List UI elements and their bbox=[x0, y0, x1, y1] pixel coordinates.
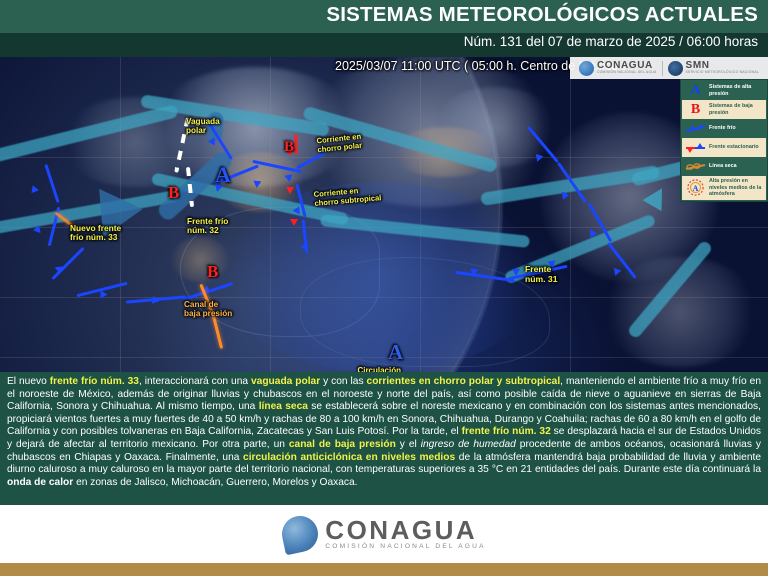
smn-logo-subtext: SERVICIO METEOROLÓGICO NACIONAL bbox=[686, 71, 759, 74]
legend-item-cold-front: Frente frío bbox=[682, 119, 766, 138]
text-segment: corrientes en chorro polar y subtropical bbox=[367, 376, 561, 387]
text-segment: frente frío núm. 33 bbox=[50, 376, 139, 387]
cold-front-barb bbox=[512, 269, 520, 276]
mid-level-high-icon: A bbox=[685, 180, 706, 195]
bulletin-number-date: Núm. 131 del 07 de marzo de 2025 / 06:00… bbox=[464, 34, 758, 49]
text-segment: y el bbox=[396, 439, 421, 450]
legend-label: Sistemas de alta presión bbox=[709, 84, 763, 97]
text-segment: frente frío núm. 32 bbox=[462, 426, 551, 437]
legend-item-high-pressure: A Sistemas de alta presión bbox=[682, 81, 766, 100]
bulletin-paragraph: El nuevo frente frío núm. 33, interaccio… bbox=[7, 376, 761, 488]
high-pressure-icon: A bbox=[685, 83, 706, 98]
text-segment: circulación anticiclónica en niveles med… bbox=[243, 452, 455, 463]
legend-label: Frente estacionario bbox=[709, 144, 759, 151]
cold-front-icon bbox=[685, 121, 706, 136]
footer: CONAGUA COMISIÓN NACIONAL DEL AGUA bbox=[0, 505, 768, 563]
cold-front-barb bbox=[101, 291, 108, 299]
text-segment: canal de baja presión bbox=[289, 439, 396, 450]
cold-front-barb bbox=[470, 269, 479, 277]
grid-line bbox=[0, 157, 768, 158]
cold-front-barb bbox=[292, 206, 299, 214]
stationary-front-glyph bbox=[685, 142, 706, 154]
smn-globe-icon bbox=[668, 61, 683, 76]
marker-high-pressure-500hpa: A bbox=[388, 340, 403, 365]
legend-symbol-B: B bbox=[691, 102, 700, 118]
cold-front-glyph bbox=[685, 123, 706, 135]
cold-front-barb bbox=[284, 174, 293, 182]
satellite-weather-map: A B B B A Vaguada polar Corriente en cho… bbox=[0, 57, 768, 372]
legend-label: Frente frío bbox=[709, 125, 736, 132]
cold-front-barb bbox=[300, 242, 307, 250]
smn-logo: SMN SERVICIO METEOROLÓGICO NACIONAL bbox=[662, 61, 764, 76]
conagua-logo-subtext: COMISIÓN NACIONAL DEL AGUA bbox=[597, 71, 657, 74]
text-segment: ingreso de humedad bbox=[421, 439, 516, 450]
grid-line bbox=[570, 57, 571, 372]
agency-logo-strip: CONAGUA COMISIÓN NACIONAL DEL AGUA SMN S… bbox=[570, 57, 768, 79]
cold-front-barb bbox=[152, 296, 160, 305]
legend-item-mid-level-high: A Alta presión en niveles medios de la a… bbox=[682, 176, 766, 200]
conagua-footer-logo: CONAGUA COMISIÓN NACIONAL DEL AGUA bbox=[282, 516, 485, 552]
warm-front-bump bbox=[290, 219, 298, 226]
legend-item-dry-line: Línea seca bbox=[682, 157, 766, 176]
warm-front-bump bbox=[286, 187, 294, 194]
text-segment: El nuevo bbox=[7, 376, 50, 387]
conagua-logo: CONAGUA COMISIÓN NACIONAL DEL AGUA bbox=[574, 61, 662, 76]
map-legend: A Sistemas de alta presión B Sistemas de… bbox=[680, 79, 768, 202]
text-segment: vaguada polar bbox=[251, 376, 320, 387]
bulletin-body-text: El nuevo frente frío núm. 33, interaccio… bbox=[0, 372, 768, 505]
text-segment: en zonas de Jalisco, Michoacán, Guerrero… bbox=[73, 477, 357, 488]
dry-line-icon bbox=[685, 159, 706, 174]
cold-front-barb bbox=[547, 260, 556, 268]
cold-front-barb bbox=[253, 181, 262, 189]
footer-brand: CONAGUA bbox=[325, 517, 485, 544]
weather-bulletin-page: SISTEMAS METEOROLÓGICOS ACTUALES Núm. 13… bbox=[0, 0, 768, 576]
legend-symbol-A: A bbox=[690, 83, 700, 99]
legend-label: Sistemas de baja presión bbox=[709, 103, 763, 116]
marker-low-pressure-north: B bbox=[284, 139, 294, 156]
svg-text:A: A bbox=[693, 184, 699, 193]
subheader-bar: Núm. 131 del 07 de marzo de 2025 / 06:00… bbox=[0, 33, 768, 57]
footer-accent-bar bbox=[0, 563, 768, 576]
stationary-front-icon bbox=[685, 140, 706, 155]
conagua-water-icon bbox=[279, 513, 322, 556]
legend-item-stationary-front: Frente estacionario bbox=[682, 138, 766, 157]
text-segment: y con las bbox=[320, 376, 366, 387]
legend-item-low-pressure: B Sistemas de baja presión bbox=[682, 100, 766, 119]
dry-line-glyph bbox=[685, 161, 706, 173]
text-segment: línea seca bbox=[259, 401, 308, 412]
page-title: SISTEMAS METEOROLÓGICOS ACTUALES bbox=[326, 3, 758, 27]
legend-label: Alta presión en niveles medios de la atm… bbox=[709, 178, 763, 198]
text-segment: , interaccionará con una bbox=[139, 376, 251, 387]
text-segment: onda de calor bbox=[7, 477, 73, 488]
stationary-front-line bbox=[294, 134, 298, 154]
marker-low-pressure-baja: B bbox=[207, 262, 218, 282]
mid-level-high-glyph: A bbox=[686, 179, 705, 196]
footer-tagline: COMISIÓN NACIONAL DEL AGUA bbox=[325, 544, 485, 551]
marker-low-pressure-northwest: B bbox=[168, 183, 179, 203]
conagua-water-icon bbox=[579, 61, 594, 76]
low-pressure-icon: B bbox=[685, 102, 706, 117]
marker-high-pressure-pacific: A bbox=[215, 162, 231, 188]
legend-label: Línea seca bbox=[709, 163, 737, 170]
header-bar: SISTEMAS METEOROLÓGICOS ACTUALES bbox=[0, 0, 768, 33]
